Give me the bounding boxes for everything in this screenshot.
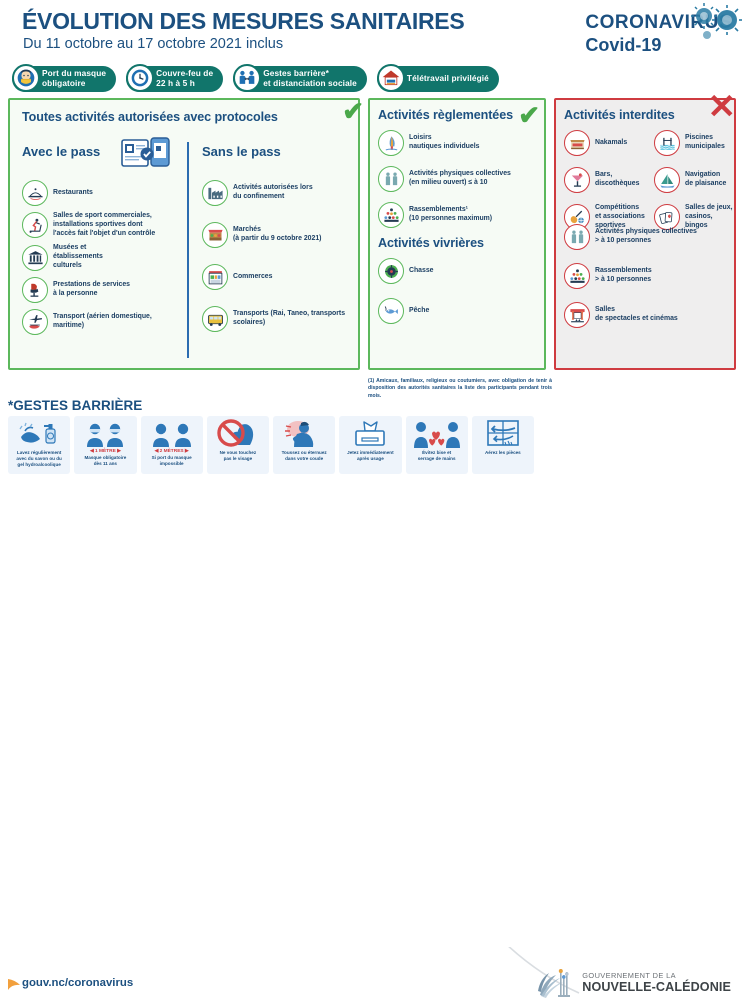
list-item-label: Nakamals — [595, 139, 627, 148]
badge-curfew-line1: Couvre-feu de — [156, 68, 213, 78]
two-people-icon — [378, 166, 404, 192]
cross-mark-forbidden: ✕ — [708, 90, 737, 124]
gestes-barriere-band: Lavez régulièrement avec du savon ou du … — [8, 416, 534, 474]
list-item: Prestations de services à la personne — [22, 277, 182, 303]
cough-elbow-icon — [281, 419, 327, 449]
list-item-label: Activités physiques collectives > à 10 p… — [595, 228, 697, 246]
plane-boat-icon — [22, 309, 48, 335]
house-icon — [377, 64, 405, 92]
panel-forbidden-activities: Activités interdites Nakamals — [554, 98, 736, 370]
panel-regulated-title: Activités règlementées — [378, 108, 513, 122]
check-mark-allowed: ✔ — [342, 98, 364, 124]
crowd-icon — [378, 202, 404, 228]
without-pass-title: Sans le pass — [202, 144, 281, 159]
geste-card-no-handshake: Évitez bise et serrage de mains — [406, 416, 468, 474]
list-item: Pêche — [378, 298, 544, 324]
footnote-rassemblements: (1) Amicaux, familiaux, religieux ou cou… — [368, 378, 552, 400]
windsurf-icon — [378, 130, 404, 156]
list-item: Transports (Rai, Taneo, transports scola… — [202, 306, 357, 332]
badge-curfew: Couvre-feu de 22 h à 5 h — [126, 64, 223, 93]
geste-card-no-face-touch: Ne vous touchez pas le visage — [207, 416, 269, 474]
nc-government-logo — [536, 963, 576, 1001]
website-link[interactable]: gouv.nc/coronavirus — [22, 977, 133, 989]
list-item-label: Musées et établissements culturels — [53, 244, 103, 270]
subsistence-list: Chasse Pêche — [378, 258, 544, 330]
list-item-label: Transport (aérien domestique, maritime) — [53, 313, 152, 331]
list-item: Musées et établissements culturels — [22, 244, 182, 270]
panel-regulated-activities: Activités règlementées Loisirs nautiques… — [368, 98, 546, 370]
list-item-label: Rassemblements > à 10 personnes — [595, 267, 652, 285]
geste-distance: ◀ 1 MÈTRE ▶ — [90, 449, 121, 454]
list-item-label: Salles de sport commerciales, installati… — [53, 212, 155, 238]
measure-badges: Port du masque obligatoire Couvre-feu d — [12, 64, 499, 93]
check-mark-regulated: ✔ — [518, 102, 540, 128]
geste-card-handwash: Lavez régulièrement avec du savon ou du … — [8, 416, 70, 474]
list-item: Activités physiques collectives > à 10 p… — [564, 224, 734, 250]
badge-distancing: Gestes barrière* et distanciation social… — [233, 64, 367, 93]
list-item: Restaurants — [22, 180, 182, 206]
geste-card-mask-1m: ◀ 1 MÈTRE ▶ Masque obligatoire dès 11 an… — [74, 416, 136, 474]
list-item-label: Salles de spectacles et cinémas — [595, 306, 678, 324]
geste-caption: Masque obligatoire dès 11 ans — [82, 455, 128, 467]
gestes-barriere-title: *GESTES BARRIÈRE — [8, 398, 142, 413]
list-item: Transport (aérien domestique, maritime) — [22, 309, 182, 335]
two-people-1m-icon — [83, 419, 127, 449]
with-pass-list: Restaurants Salles de sport commerciales… — [22, 180, 182, 341]
geste-card-tissue: Jetez immédiatement après usage — [339, 416, 401, 474]
list-item-label: Piscines municipales — [685, 134, 725, 152]
fish-icon — [378, 298, 404, 324]
list-item: Piscines municipales — [654, 130, 734, 156]
cloche-restaurant-icon — [22, 180, 48, 206]
gov-line-1: GOUVERNEMENT DE LA — [582, 971, 731, 980]
badge-telework-line1: Télétravail privilégié — [407, 74, 489, 84]
cocktail-icon — [564, 167, 590, 193]
list-item-label: Marchés (à partir du 9 octobre 2021) — [233, 226, 321, 244]
list-item: Loisirs nautiques individuels — [378, 130, 544, 156]
page-subtitle: Du 11 octobre au 17 octobre 2021 inclus — [23, 36, 283, 52]
list-item-label: Activités physiques collectives (en mili… — [409, 170, 511, 188]
geste-caption: Toussez ou éternuez dans votre coude — [280, 450, 329, 462]
two-people-icon — [564, 224, 590, 250]
treadmill-icon — [22, 212, 48, 238]
no-handshake-icon — [413, 419, 461, 449]
geste-caption: Ne vous touchez pas le visage — [218, 450, 259, 462]
list-item: Bars, discothèques — [564, 167, 650, 193]
badge-mask: Port du masque obligatoire — [12, 64, 116, 93]
market-stall-icon — [202, 222, 228, 248]
badge-telework: Télétravail privilégié — [377, 64, 499, 93]
badge-distancing-line1: Gestes barrière* — [263, 68, 329, 78]
geste-caption: Si port du masque impossible — [150, 455, 194, 467]
with-pass-title: Avec le pass — [22, 144, 100, 159]
panel-forbidden-title: Activités interdites — [564, 108, 675, 122]
geste-distance: ◀ 2 MÈTRES ▶ — [155, 449, 189, 454]
list-item: Salles de spectacles et cinémas — [564, 302, 734, 328]
no-face-touch-icon — [215, 419, 261, 449]
theatre-icon — [564, 302, 590, 328]
badge-curfew-line2: 22 h à 5 h — [156, 78, 195, 88]
list-item-label: Commerces — [233, 273, 272, 282]
list-item-label: Restaurants — [53, 189, 93, 198]
footer: gouv.nc/coronavirus GOUVER — [0, 477, 745, 527]
list-item: Rassemblements > à 10 personnes — [564, 263, 734, 289]
crowd-icon — [564, 263, 590, 289]
list-item-label: Chasse — [409, 267, 434, 276]
salon-chair-icon — [22, 277, 48, 303]
geste-card-ventilate: Aérez les pièces — [472, 416, 534, 474]
infographic-page: ÉVOLUTION DES MESURES SANITAIRES Du 11 o… — [0, 0, 745, 527]
list-item-label: Pêche — [409, 307, 429, 316]
virus-decoration-icon — [682, 2, 742, 48]
gov-line-2: NOUVELLE-CALÉDONIE — [582, 980, 731, 994]
list-item-label: Transports (Rai, Taneo, transports scola… — [233, 310, 345, 328]
masked-face-icon — [12, 64, 40, 92]
museum-icon — [22, 245, 48, 271]
clock-icon — [126, 64, 154, 92]
list-item: Navigation de plaisance — [654, 167, 734, 193]
list-item-label: Bars, discothèques — [595, 171, 639, 189]
page-title: ÉVOLUTION DES MESURES SANITAIRES — [22, 8, 464, 35]
panel-allowed-activities: Toutes activités autorisées avec protoco… — [8, 98, 360, 370]
shop-icon — [202, 264, 228, 290]
geste-caption: Jetez immédiatement après usage — [345, 450, 395, 462]
geste-caption: Aérez les pièces — [483, 450, 523, 456]
bus-icon — [202, 306, 228, 332]
list-item: Nakamals — [564, 130, 650, 156]
geste-card-cough-elbow: Toussez ou éternuez dans votre coude — [273, 416, 335, 474]
list-item-label: Loisirs nautiques individuels — [409, 134, 479, 152]
geste-card-mask-2m: ◀ 2 MÈTRES ▶ Si port du masque impossibl… — [141, 416, 203, 474]
without-pass-list: Activités autorisées lors du confinement… — [202, 180, 357, 338]
distancing-icon — [233, 64, 261, 92]
forbidden-list-bottom: Activités physiques collectives > à 10 p… — [564, 224, 734, 334]
window-air-icon — [481, 419, 525, 449]
geste-caption: Lavez régulièrement avec du savon ou du … — [14, 450, 63, 469]
factory-icon — [202, 180, 228, 206]
handwash-icon — [16, 419, 62, 449]
nakamal-icon — [564, 130, 590, 156]
list-item: Commerces — [202, 264, 357, 290]
badge-mask-line2: obligatoire — [42, 78, 86, 88]
geste-caption: Évitez bise et serrage de mains — [416, 450, 458, 462]
header: ÉVOLUTION DES MESURES SANITAIRES Du 11 o… — [0, 0, 745, 60]
two-people-2m-icon — [150, 419, 194, 449]
subsistence-title: Activités vivrières — [378, 236, 484, 250]
list-item: Salles de sport commerciales, installati… — [22, 212, 182, 238]
tissue-box-icon — [349, 419, 391, 449]
list-item: Activités physiques collectives (en mili… — [378, 166, 544, 192]
list-item: Chasse — [378, 258, 544, 284]
panel-allowed-title: Toutes activités autorisées avec protoco… — [22, 110, 278, 124]
regulated-list: Loisirs nautiques individuels Activités … — [378, 130, 544, 238]
list-item: Marchés (à partir du 9 octobre 2021) — [202, 222, 357, 248]
list-item-label: Navigation de plaisance — [685, 171, 726, 189]
badge-mask-line1: Port du masque — [42, 68, 106, 78]
badge-distancing-line2: et distanciation sociale — [263, 78, 357, 88]
sailboat-icon — [654, 167, 680, 193]
government-logo-block: GOUVERNEMENT DE LA NOUVELLE-CALÉDONIE — [536, 963, 731, 1001]
health-pass-icon — [120, 136, 180, 170]
panel-divider — [187, 142, 189, 358]
pool-icon — [654, 130, 680, 156]
hunting-icon — [378, 258, 404, 284]
list-item: Rassemblements¹ (10 personnes maximum) — [378, 202, 544, 228]
list-item-label: Activités autorisées lors du confinement — [233, 184, 313, 202]
list-item-label: Rassemblements¹ (10 personnes maximum) — [409, 206, 492, 224]
list-item: Activités autorisées lors du confinement — [202, 180, 357, 206]
list-item-label: Prestations de services à la personne — [53, 281, 130, 299]
